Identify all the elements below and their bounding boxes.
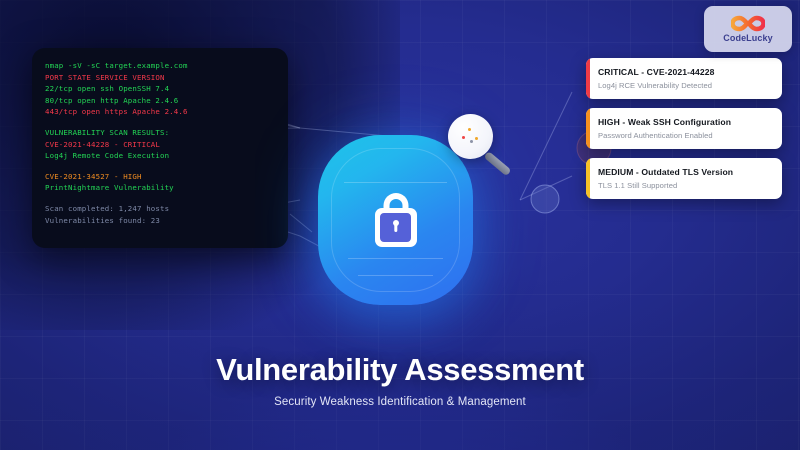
alert-subtitle: Log4j RCE Vulnerability Detected — [598, 81, 771, 90]
tile-rule-bottom — [358, 275, 433, 276]
brand-badge[interactable]: CodeLucky — [704, 6, 792, 52]
magnifier-dot-amber — [468, 128, 471, 131]
terminal-line: 80/tcp open http Apache 2.4.6 — [45, 95, 275, 107]
magnifier-dot-amber-2 — [475, 137, 478, 140]
padlock-face — [380, 213, 411, 242]
alert-subtitle: TLS 1.1 Still Supported — [598, 181, 771, 190]
padlock-shackle — [383, 193, 408, 219]
alert-card[interactable]: HIGH - Weak SSH ConfigurationPassword Au… — [586, 108, 782, 149]
terminal-line: 443/tcp open https Apache 2.4.6 — [45, 106, 275, 118]
alert-subtitle: Password Authentication Enabled — [598, 131, 771, 140]
magnifier-dot-gray — [470, 140, 473, 143]
magnifier-handle — [483, 151, 511, 176]
terminal-line: Log4j Remote Code Execution — [45, 150, 275, 162]
page-title: Vulnerability Assessment — [0, 352, 800, 388]
terminal-line: CVE-2021-34527 - HIGH — [45, 171, 275, 183]
terminal-line: PrintNightmare Vulnerability — [45, 182, 275, 194]
padlock-body — [375, 208, 417, 247]
terminal-blank-line — [45, 118, 275, 127]
slide-canvas: nmap -sV -sC target.example.comPORT STAT… — [0, 0, 800, 450]
title-block: Vulnerability Assessment Security Weakne… — [0, 352, 800, 408]
terminal-blank-line — [45, 194, 275, 203]
alert-severity-bar — [586, 108, 590, 149]
alert-title: HIGH - Weak SSH Configuration — [598, 117, 771, 127]
magnifier-dot-red — [462, 136, 465, 139]
terminal-window[interactable]: nmap -sV -sC target.example.comPORT STAT… — [32, 48, 288, 248]
magnifier-lens — [448, 114, 493, 159]
terminal-line: CVE-2021-44228 - CRITICAL — [45, 139, 275, 151]
alert-card-list: CRITICAL - CVE-2021-44228Log4j RCE Vulne… — [586, 58, 782, 199]
infinity-icon — [731, 15, 765, 32]
terminal-line: 22/tcp open ssh OpenSSH 7.4 — [45, 83, 275, 95]
terminal-output: nmap -sV -sC target.example.comPORT STAT… — [45, 60, 275, 226]
tile-rule-top — [344, 182, 447, 183]
terminal-line: nmap -sV -sC target.example.com — [45, 60, 275, 72]
padlock-icon — [375, 193, 417, 247]
padlock-keyhole — [393, 220, 399, 226]
terminal-line: VULNERABILITY SCAN RESULTS: — [45, 127, 275, 139]
terminal-blank-line — [45, 162, 275, 171]
terminal-line: Scan completed: 1,247 hosts — [45, 203, 275, 215]
alert-severity-bar — [586, 158, 590, 199]
alert-card[interactable]: MEDIUM - Outdated TLS VersionTLS 1.1 Sti… — [586, 158, 782, 199]
terminal-line: Vulnerabilities found: 23 — [45, 215, 275, 227]
page-subtitle: Security Weakness Identification & Manag… — [0, 396, 800, 408]
brand-name: CodeLucky — [723, 33, 772, 43]
magnifying-glass-icon — [448, 114, 516, 182]
alert-severity-bar — [586, 58, 590, 99]
alert-title: CRITICAL - CVE-2021-44228 — [598, 67, 771, 77]
alert-title: MEDIUM - Outdated TLS Version — [598, 167, 771, 177]
tile-rule-mid — [348, 258, 443, 259]
terminal-line: PORT STATE SERVICE VERSION — [45, 72, 275, 84]
alert-card[interactable]: CRITICAL - CVE-2021-44228Log4j RCE Vulne… — [586, 58, 782, 99]
